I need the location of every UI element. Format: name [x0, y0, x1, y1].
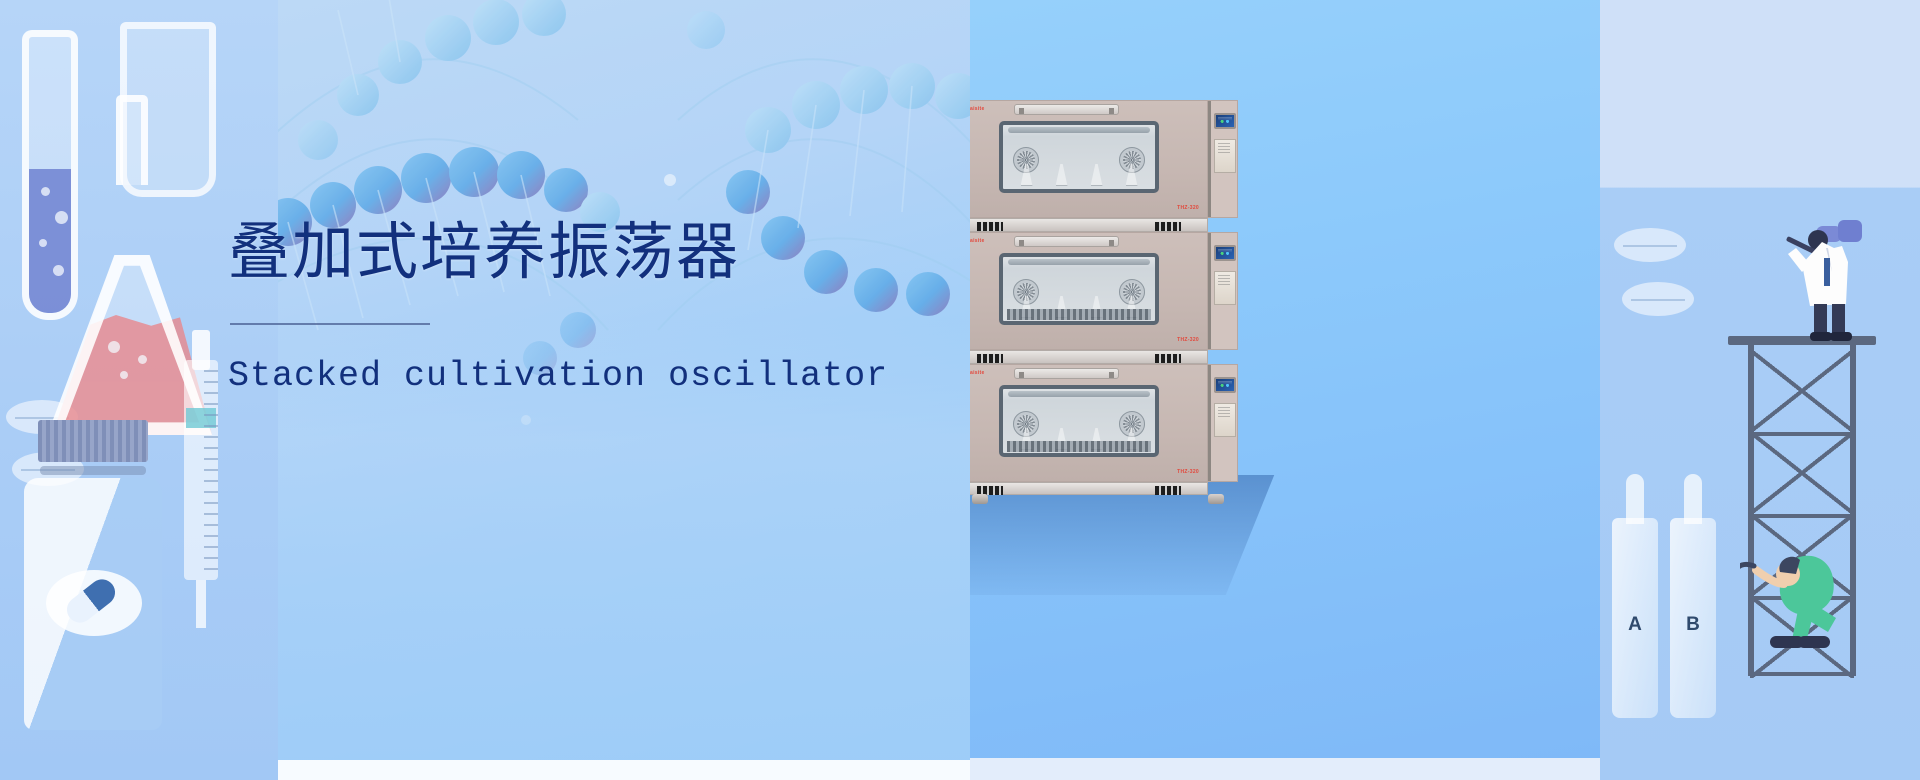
vent-grille-icon — [1155, 486, 1181, 495]
bottle-cap — [38, 420, 148, 462]
viewing-window — [999, 121, 1159, 193]
syringe-icon — [178, 330, 224, 630]
vent-grille-icon — [1155, 354, 1181, 363]
brand-label: Taisite — [970, 106, 985, 112]
syringe-tip — [196, 580, 206, 628]
ampoule-b: B — [1670, 518, 1716, 718]
door-handle[interactable] — [1014, 368, 1119, 379]
bottle-ring — [40, 466, 146, 475]
model-label: THZ-320 — [1177, 205, 1199, 211]
spec-label-sheet — [1214, 271, 1236, 305]
unit-bottom: Taisite THZ-320 — [970, 364, 1238, 482]
vent-grille-icon — [1155, 222, 1181, 231]
viewing-window — [999, 385, 1159, 457]
title-divider — [230, 323, 430, 325]
panel-product-footer-band — [970, 758, 1600, 780]
scaffold-cross-brace — [1750, 432, 1854, 514]
spec-label-sheet — [1214, 139, 1236, 173]
model-label: THZ-320 — [1177, 469, 1199, 475]
stacked-incubator-shaker: Taisite THZ-320 — [970, 100, 1258, 485]
ampoule-b-label: B — [1686, 614, 1700, 636]
base-plinth — [970, 482, 1208, 495]
leveling-foot-icon — [972, 494, 988, 504]
pill-tablet-icon — [1622, 282, 1694, 316]
window-top-bar — [1008, 259, 1151, 265]
page-subtitle-english: Stacked cultivation oscillator — [228, 355, 988, 397]
shaker-tray — [1007, 441, 1151, 452]
scientist-in-green-icon — [1740, 540, 1870, 660]
viewing-window — [999, 253, 1159, 325]
ampoule-a-label: A — [1628, 614, 1642, 636]
panel-scientists: A B — [1600, 0, 1920, 780]
door-handle[interactable] — [1014, 104, 1119, 115]
window-top-bar — [1008, 127, 1151, 133]
flask-neck — [116, 95, 148, 185]
unit-top-control-column — [1208, 100, 1238, 218]
model-label: THZ-320 — [1177, 337, 1199, 343]
unit-top: Taisite THZ-320 — [970, 100, 1238, 218]
syringe-graduations — [204, 370, 218, 575]
control-display[interactable] — [1214, 377, 1236, 393]
medicine-bottle-icon — [18, 420, 168, 740]
leveling-foot-icon — [1208, 494, 1224, 504]
unit-bottom-body: Taisite THZ-320 — [970, 364, 1208, 482]
unit-divider-top — [970, 218, 1208, 232]
page-title-chinese: 叠加式培养振荡器 — [228, 218, 988, 289]
scaffold-rung — [1748, 514, 1856, 518]
scaffold-cross-brace — [1750, 350, 1854, 432]
control-display[interactable] — [1214, 245, 1236, 261]
control-display[interactable] — [1214, 113, 1236, 129]
sample-flask-row — [1009, 158, 1149, 186]
unit-top-body: Taisite THZ-320 — [970, 100, 1208, 218]
spec-label-sheet — [1214, 403, 1236, 437]
panel-product-photo: Taisite THZ-320 — [970, 0, 1600, 758]
door-handle[interactable] — [1014, 236, 1119, 247]
scaffold-rung — [1748, 432, 1856, 436]
ampoule-a: A — [1612, 518, 1658, 718]
unit-middle-control-column — [1208, 232, 1238, 350]
product-banner: Taisite THZ-320 — [0, 0, 1920, 780]
scientist-with-telescope-icon — [1770, 218, 1890, 346]
scaffold-rung — [1748, 672, 1856, 676]
window-top-bar — [1008, 391, 1151, 397]
unit-middle-body: Taisite THZ-320 — [970, 232, 1208, 350]
headline-block: 叠加式培养振荡器 Stacked cultivation oscillator — [228, 218, 988, 397]
pill-tablet-icon — [1614, 228, 1686, 262]
unit-bottom-control-column — [1208, 364, 1238, 482]
unit-middle: Taisite THZ-320 — [970, 232, 1238, 350]
panel-dna-footer-band — [278, 760, 970, 780]
unit-divider-bottom — [970, 350, 1208, 364]
shaker-tray — [1007, 309, 1151, 320]
